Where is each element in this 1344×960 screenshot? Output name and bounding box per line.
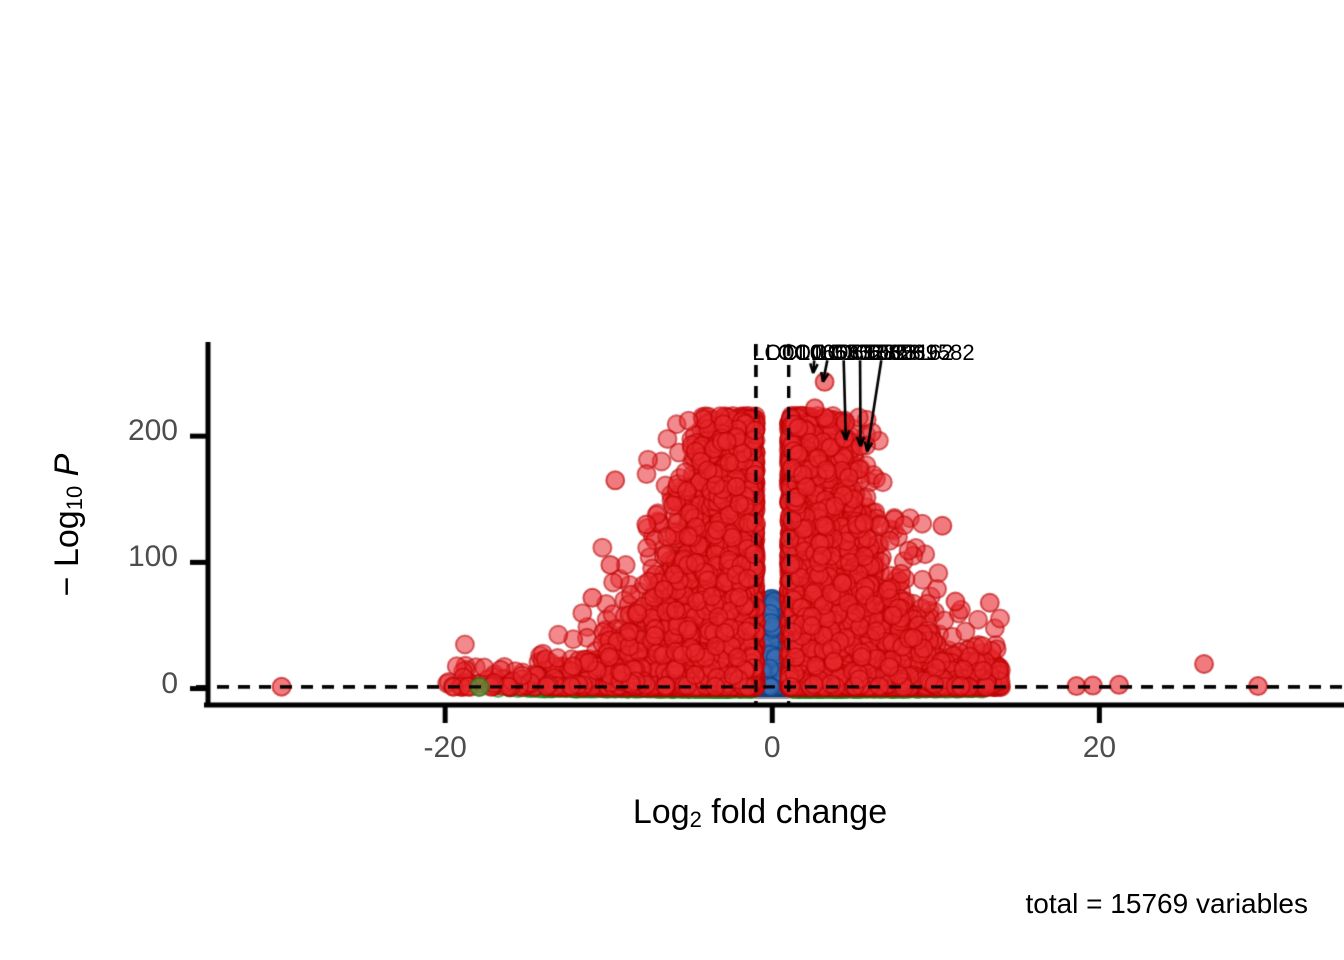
x-axis-title: Log2 fold change [430,793,1090,833]
figure-caption: total = 15769 variables [1025,888,1308,920]
y-axis-title: − Log10 P [48,395,88,655]
y-axis-tick-label: 0 [48,667,178,701]
y-axis-title-sub: 10 [62,486,87,510]
x-axis-title-sub: 2 [690,807,702,832]
x-axis-tick-label: 20 [1039,731,1159,765]
y-axis-title-post: P [48,454,86,477]
x-axis-title-pre: Log [633,793,690,831]
y-axis-title-pre: − Log [48,510,86,596]
volcano-plot-figure: Volcano Plot: GFP_vs_CONTROL EnhancedVol… [0,0,1344,960]
x-axis-tick-label: 0 [712,731,832,765]
x-axis-tick-label: -20 [385,731,505,765]
x-axis-title-post: fold change [702,793,887,831]
gene-label: LOC106539582 [819,342,974,364]
